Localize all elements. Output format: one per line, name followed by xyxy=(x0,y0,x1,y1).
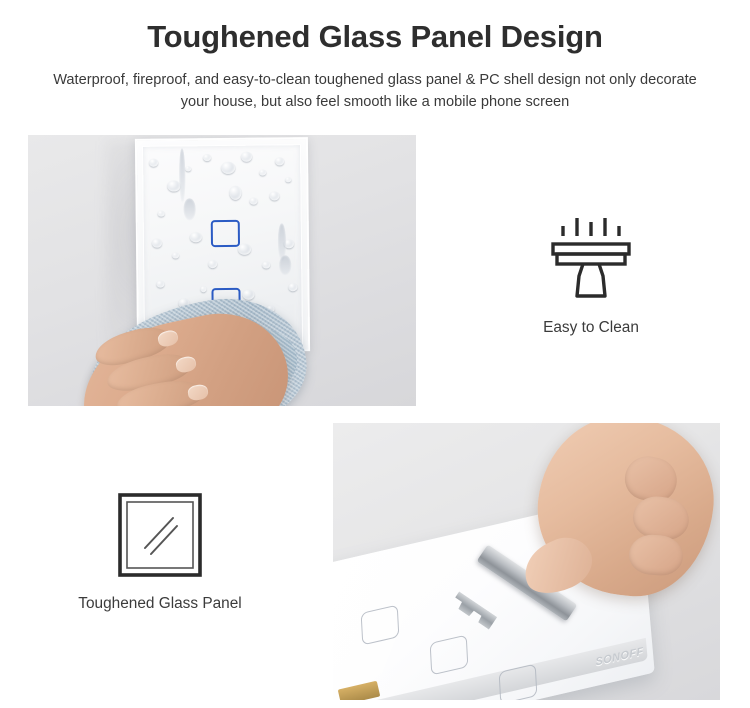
feature-label-easy-to-clean: Easy to Clean xyxy=(452,318,730,338)
squeegee-icon xyxy=(452,212,730,304)
feature-easy-to-clean: Easy to Clean xyxy=(452,212,730,338)
feature-label-toughened-glass-panel: Toughened Glass Panel xyxy=(20,594,300,614)
page-title: Toughened Glass Panel Design xyxy=(0,0,750,57)
photo-key-scratch-test: SONOFF xyxy=(333,423,720,700)
touch-button-outline-1[interactable] xyxy=(211,220,240,247)
header: Toughened Glass Panel Design Waterproof,… xyxy=(0,0,750,114)
feature-toughened-glass-panel: Toughened Glass Panel xyxy=(20,492,300,614)
glass-pane-icon xyxy=(20,492,300,578)
photo-wet-panel-wipe xyxy=(28,135,416,406)
page-subtitle: Waterproof, fireproof, and easy-to-clean… xyxy=(50,57,700,114)
